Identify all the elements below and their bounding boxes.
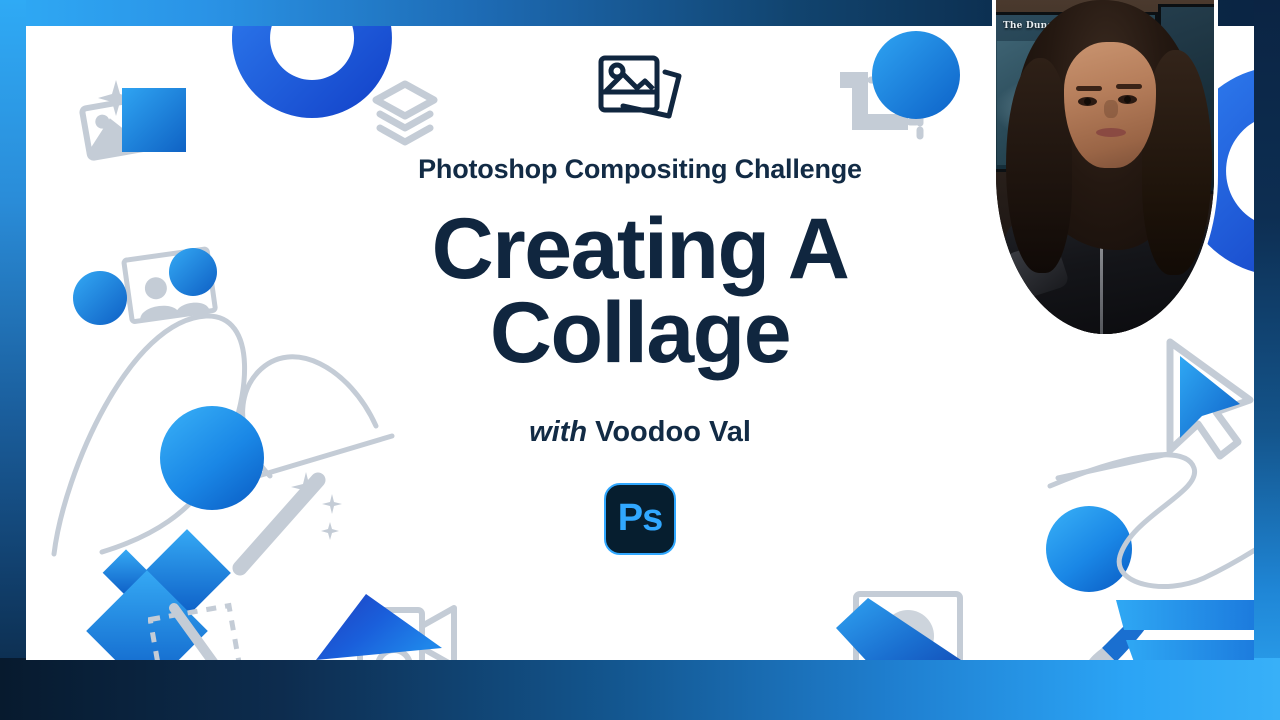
blue-triangle: [312, 580, 452, 660]
photo-subject-hair-left: [1006, 58, 1072, 273]
blue-donut-ring: [232, 26, 392, 118]
presenter-photo: The Dungeon Myst: [996, 0, 1214, 334]
photo-face-eye-right: [1118, 95, 1137, 104]
photo-face-mouth: [1096, 128, 1126, 137]
swirl-curve: [1036, 438, 1254, 618]
blue-circle: [872, 31, 960, 119]
blue-diamond-large: [826, 586, 986, 660]
presenter-photo-scene: The Dungeon Myst: [996, 0, 1214, 334]
photo-face-nose: [1104, 100, 1118, 118]
layers-icon: [372, 80, 438, 146]
frame-bottom-band: [0, 658, 1280, 720]
photo-face-brow-left: [1076, 86, 1102, 91]
frame-left-band: [0, 0, 26, 720]
photo-face-brow-right: [1116, 84, 1142, 89]
frame-right-band: [1254, 0, 1280, 720]
photo-jacket-zipper: [1100, 238, 1103, 334]
brush-stroke-stripes: [1112, 594, 1254, 660]
blue-square-gradient: [122, 88, 186, 152]
slide-root: Photoshop Compositing Challenge Creating…: [0, 0, 1280, 720]
dashed-selection-box: [148, 598, 258, 660]
photo-face-eye-left: [1078, 97, 1097, 106]
